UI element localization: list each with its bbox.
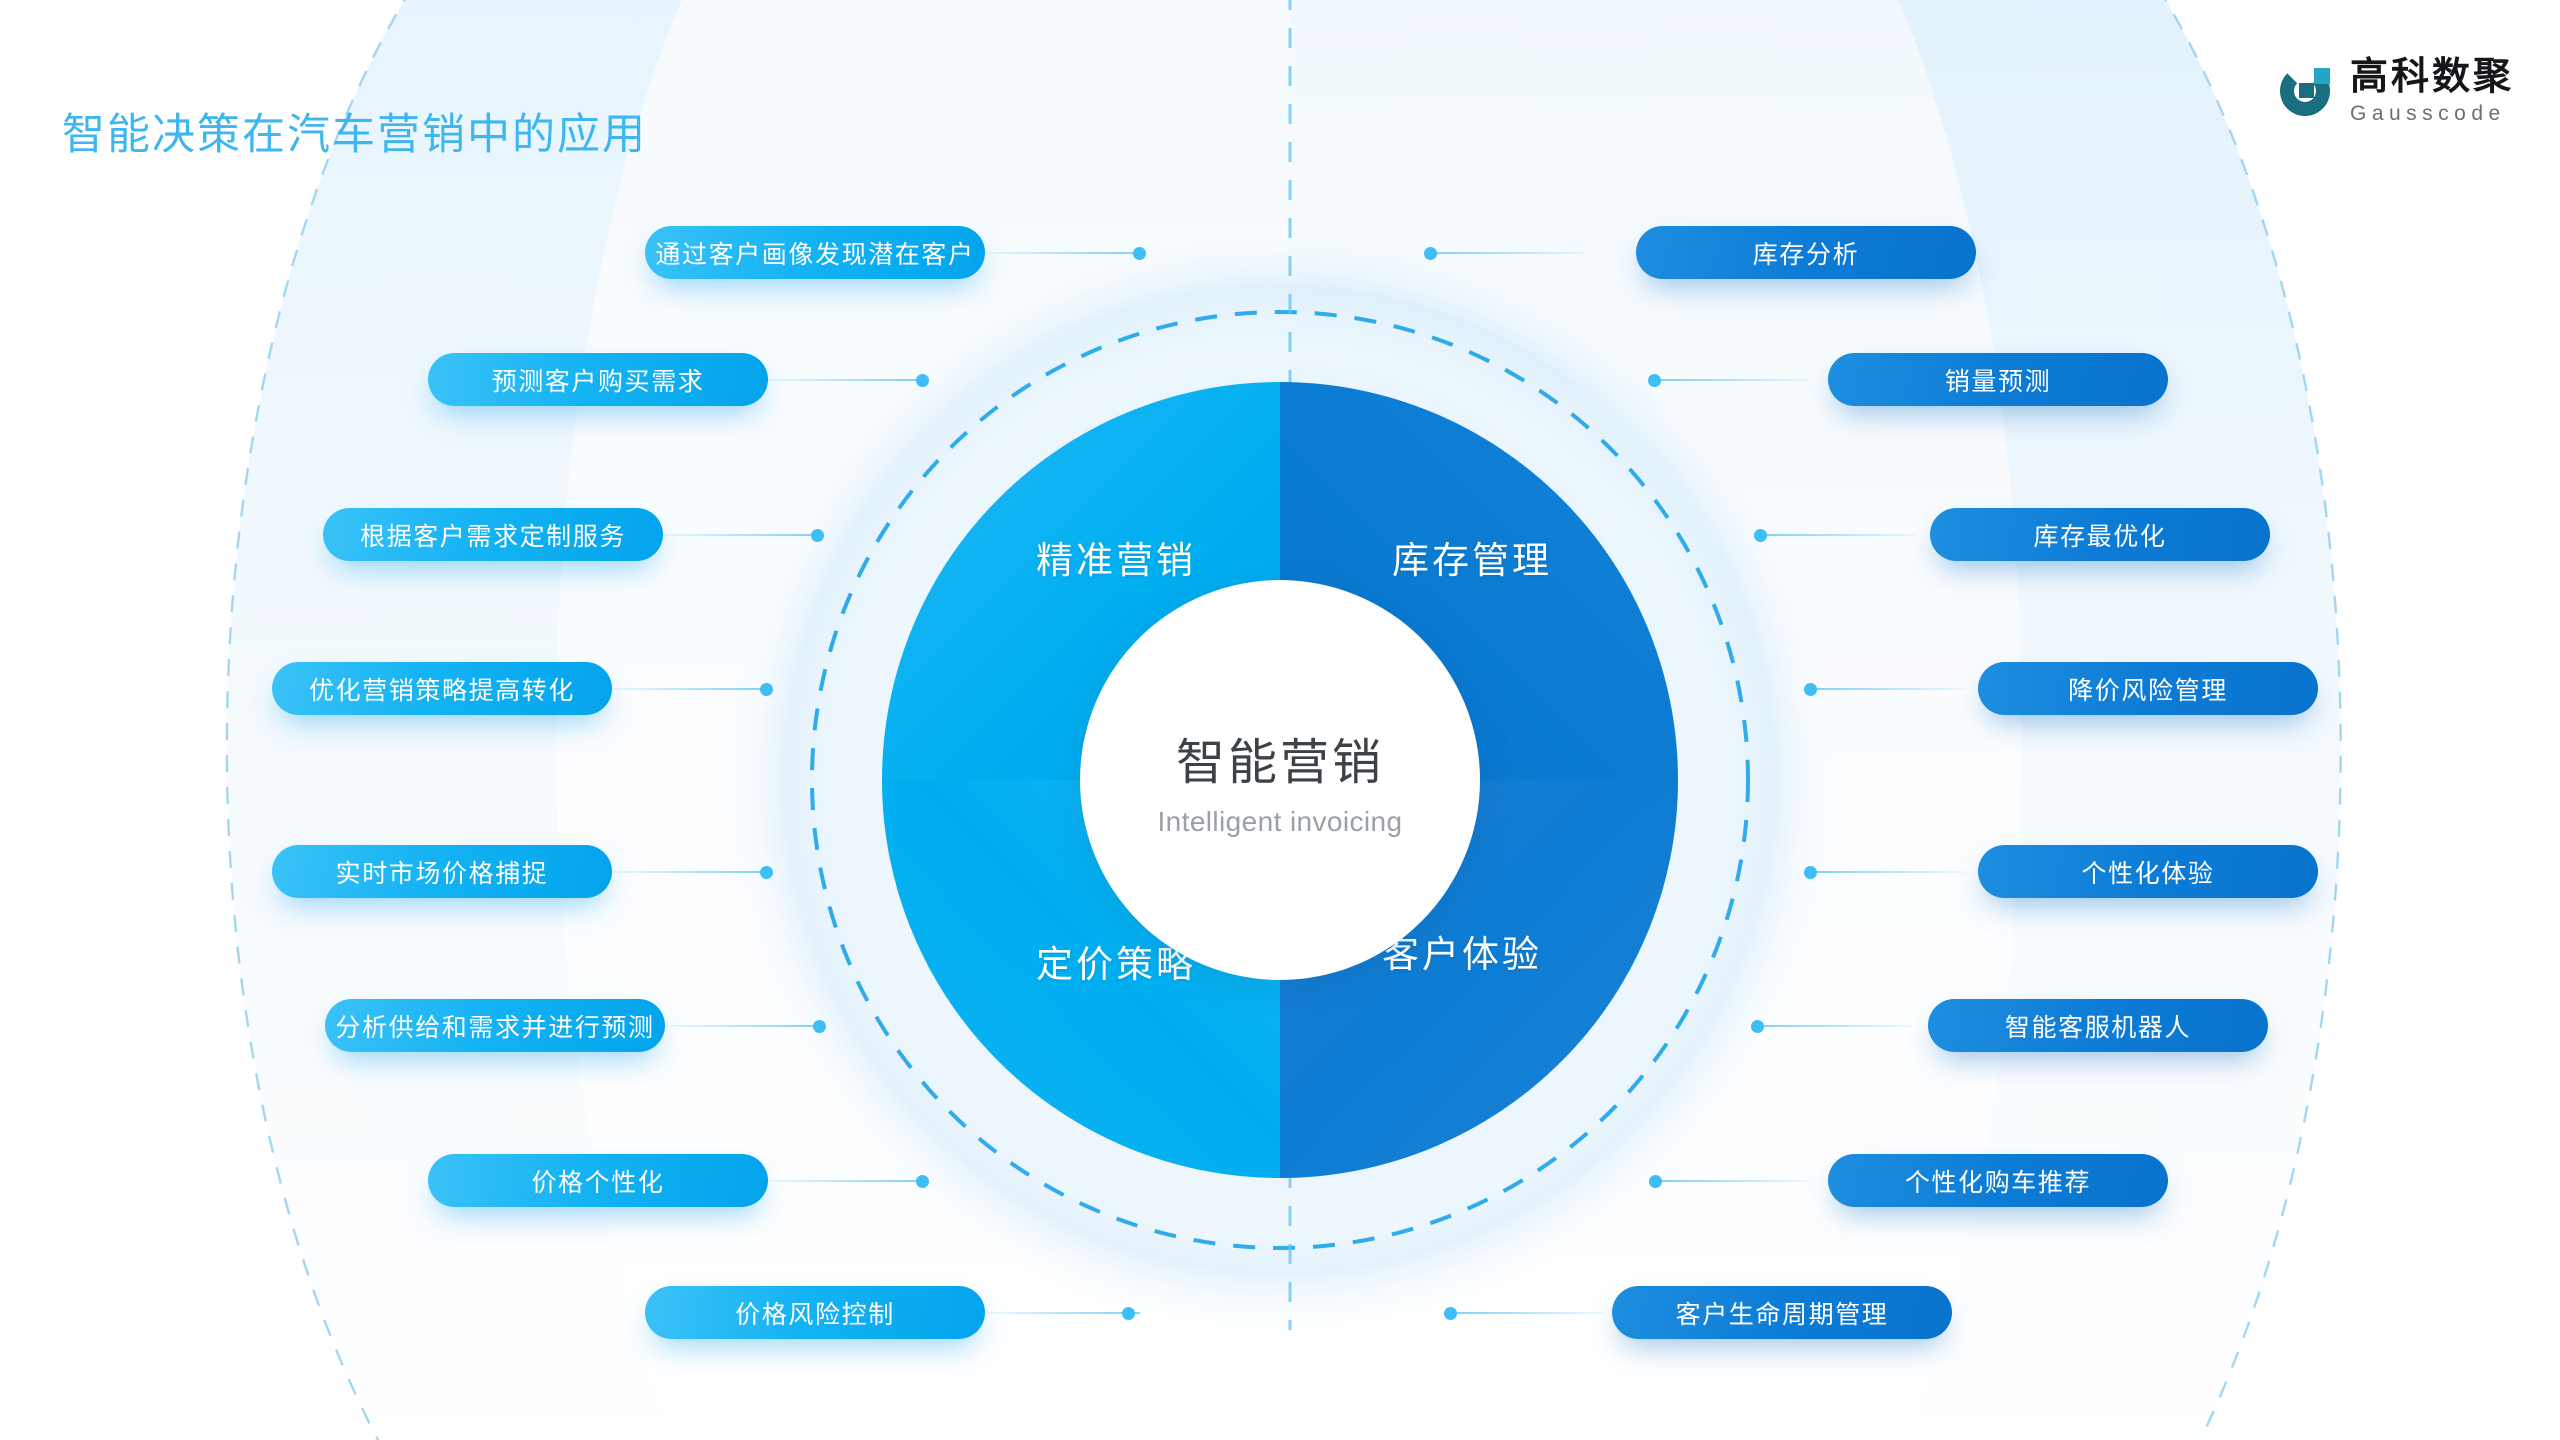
feature-pill-left-6[interactable]: 价格个性化 bbox=[428, 1154, 768, 1207]
feature-pill-right-4[interactable]: 个性化体验 bbox=[1978, 845, 2318, 898]
connector-dot-left-2 bbox=[811, 529, 824, 542]
connector-dot-left-1 bbox=[916, 374, 929, 387]
feature-pill-right-5[interactable]: 智能客服机器人 bbox=[1928, 999, 2268, 1052]
feature-pill-left-4[interactable]: 实时市场价格捕捉 bbox=[272, 845, 612, 898]
brand-logo: 高科数聚 Gausscode bbox=[2276, 58, 2514, 124]
infographic-canvas: 智能决策在汽车营销中的应用 高科数聚 Gausscode 精准营销 库存管理 定… bbox=[0, 0, 2560, 1440]
feature-pill-right-7[interactable]: 客户生命周期管理 bbox=[1612, 1286, 1952, 1339]
connector-right-4 bbox=[1810, 871, 1965, 873]
connector-right-0 bbox=[1430, 252, 1585, 254]
feature-pill-right-1[interactable]: 销量预测 bbox=[1828, 353, 2168, 406]
connector-dot-left-0 bbox=[1133, 247, 1146, 260]
feature-pill-left-5[interactable]: 分析供给和需求并进行预测 bbox=[325, 999, 665, 1052]
connector-left-6 bbox=[768, 1180, 923, 1182]
connector-left-1 bbox=[768, 379, 923, 381]
feature-pill-right-2[interactable]: 库存最优化 bbox=[1930, 508, 2270, 561]
quadrant-label-inventory-management: 库存管理 bbox=[1392, 530, 1552, 584]
feature-pill-right-6[interactable]: 个性化购车推荐 bbox=[1828, 1154, 2168, 1207]
core-title-en: Intelligent invoicing bbox=[1158, 806, 1403, 838]
connector-left-4 bbox=[612, 871, 767, 873]
connector-left-3 bbox=[612, 688, 767, 690]
connector-dot-left-6 bbox=[916, 1175, 929, 1188]
connector-left-2 bbox=[663, 534, 818, 536]
connector-right-7 bbox=[1450, 1312, 1605, 1314]
core-node[interactable]: 智能营销 Intelligent invoicing bbox=[1080, 580, 1480, 980]
connector-dot-right-3 bbox=[1804, 683, 1817, 696]
connector-left-7 bbox=[985, 1312, 1140, 1314]
logo-name-en: Gausscode bbox=[2350, 103, 2514, 124]
feature-pill-left-1[interactable]: 预测客户购买需求 bbox=[428, 353, 768, 406]
connector-dot-left-7 bbox=[1122, 1307, 1135, 1320]
connector-dot-left-5 bbox=[813, 1020, 826, 1033]
connector-right-6 bbox=[1655, 1180, 1810, 1182]
feature-pill-right-0[interactable]: 库存分析 bbox=[1636, 226, 1976, 279]
connector-dot-right-0 bbox=[1424, 247, 1437, 260]
quadrant-label-precision-marketing: 精准营销 bbox=[1036, 530, 1196, 584]
gausscode-logo-icon bbox=[2276, 62, 2334, 120]
connector-dot-right-7 bbox=[1444, 1307, 1457, 1320]
connector-right-5 bbox=[1757, 1025, 1912, 1027]
quadrant-donut: 精准营销 库存管理 定价策略 客户体验 智能营销 Intelligent inv… bbox=[882, 382, 1678, 1178]
feature-pill-left-3[interactable]: 优化营销策略提高转化 bbox=[272, 662, 612, 715]
connector-right-1 bbox=[1654, 379, 1809, 381]
connector-left-0 bbox=[985, 252, 1140, 254]
connector-dot-right-4 bbox=[1804, 866, 1817, 879]
connector-dot-right-6 bbox=[1649, 1175, 1662, 1188]
connector-dot-left-4 bbox=[760, 866, 773, 879]
feature-pill-left-2[interactable]: 根据客户需求定制服务 bbox=[323, 508, 663, 561]
connector-dot-right-5 bbox=[1751, 1020, 1764, 1033]
connector-dot-right-2 bbox=[1754, 529, 1767, 542]
connector-dot-right-1 bbox=[1648, 374, 1661, 387]
connector-left-5 bbox=[665, 1025, 820, 1027]
connector-right-3 bbox=[1810, 688, 1965, 690]
core-title-cn: 智能营销 bbox=[1176, 723, 1384, 794]
connector-right-2 bbox=[1760, 534, 1915, 536]
page-title: 智能决策在汽车营销中的应用 bbox=[62, 100, 647, 162]
feature-pill-right-3[interactable]: 降价风险管理 bbox=[1978, 662, 2318, 715]
logo-name-cn: 高科数聚 bbox=[2350, 58, 2514, 96]
feature-pill-left-0[interactable]: 通过客户画像发现潜在客户 bbox=[645, 226, 985, 279]
feature-pill-left-7[interactable]: 价格风险控制 bbox=[645, 1286, 985, 1339]
connector-dot-left-3 bbox=[760, 683, 773, 696]
